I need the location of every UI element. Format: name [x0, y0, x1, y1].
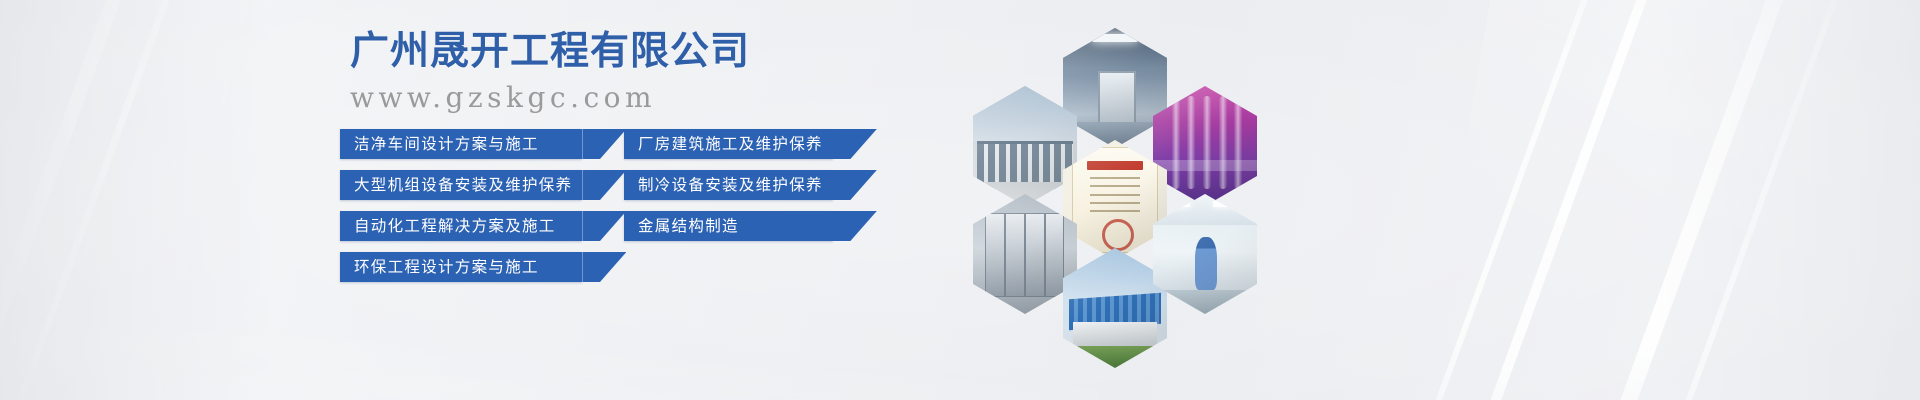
photo-gloss: [973, 86, 1077, 206]
certificate-photo: [1063, 140, 1167, 260]
hexagon-photo-collage: [935, 0, 1295, 400]
service-tag-refrigeration-equipment[interactable]: 制冷设备安装及维护保养: [624, 170, 833, 200]
control-panel-photo: [973, 194, 1077, 314]
service-tag-automation-engineering[interactable]: 自动化工程解决方案及施工: [340, 211, 582, 241]
corridor-cleanroom-photo: [1063, 28, 1167, 148]
service-tag-label: 金属结构制造: [624, 211, 749, 241]
company-title: 广州晟开工程有限公司: [350, 26, 910, 76]
service-tag-label: 制冷设备安装及维护保养: [624, 170, 833, 200]
service-tag-label: 环保工程设计方案与施工: [340, 252, 549, 282]
website-url[interactable]: www.gzskgc.com: [350, 78, 910, 118]
photo-gloss: [1063, 248, 1167, 368]
service-tag-column-left: 洁净车间设计方案与施工 大型机组设备安装及维护保养 自动化工程解决方案及施工 环…: [340, 129, 582, 293]
headline-block: 广州晟开工程有限公司 www.gzskgc.com: [350, 26, 910, 118]
service-tag-factory-construction[interactable]: 厂房建筑施工及维护保养: [624, 129, 833, 159]
pipework-photo: [1153, 86, 1257, 206]
service-tag-column-right: 厂房建筑施工及维护保养 制冷设备安装及维护保养 金属结构制造: [624, 129, 833, 252]
tag-arrow-icon: [582, 170, 626, 200]
service-tag-large-unit-equipment[interactable]: 大型机组设备安装及维护保养: [340, 170, 582, 200]
service-tag-list: 洁净车间设计方案与施工 大型机组设备安装及维护保养 自动化工程解决方案及施工 环…: [340, 129, 880, 284]
photo-gloss: [973, 194, 1077, 314]
photo-gloss: [1063, 28, 1167, 148]
tag-arrow-icon: [833, 170, 877, 200]
service-tag-clean-workshop[interactable]: 洁净车间设计方案与施工: [340, 129, 582, 159]
tag-arrow-icon: [582, 129, 626, 159]
service-tag-label: 自动化工程解决方案及施工: [340, 211, 566, 241]
photo-gloss: [1153, 194, 1257, 314]
service-tag-label: 大型机组设备安装及维护保养: [340, 170, 582, 200]
factory-building-photo: [1063, 248, 1167, 368]
cooling-tower-photo: [973, 86, 1077, 206]
photo-gloss: [1063, 140, 1167, 260]
service-tag-environmental-engineering[interactable]: 环保工程设计方案与施工: [340, 252, 582, 282]
service-tag-metal-structure[interactable]: 金属结构制造: [624, 211, 833, 241]
tag-arrow-icon: [833, 211, 877, 241]
tag-arrow-icon: [833, 129, 877, 159]
company-banner: 广州晟开工程有限公司 www.gzskgc.com 洁净车间设计方案与施工 大型…: [0, 0, 1920, 400]
tag-arrow-icon: [582, 252, 626, 282]
photo-gloss: [1153, 86, 1257, 206]
tag-arrow-icon: [582, 211, 626, 241]
cleanroom-worker-photo: [1153, 194, 1257, 314]
service-tag-label: 洁净车间设计方案与施工: [340, 129, 549, 159]
service-tag-label: 厂房建筑施工及维护保养: [624, 129, 833, 159]
